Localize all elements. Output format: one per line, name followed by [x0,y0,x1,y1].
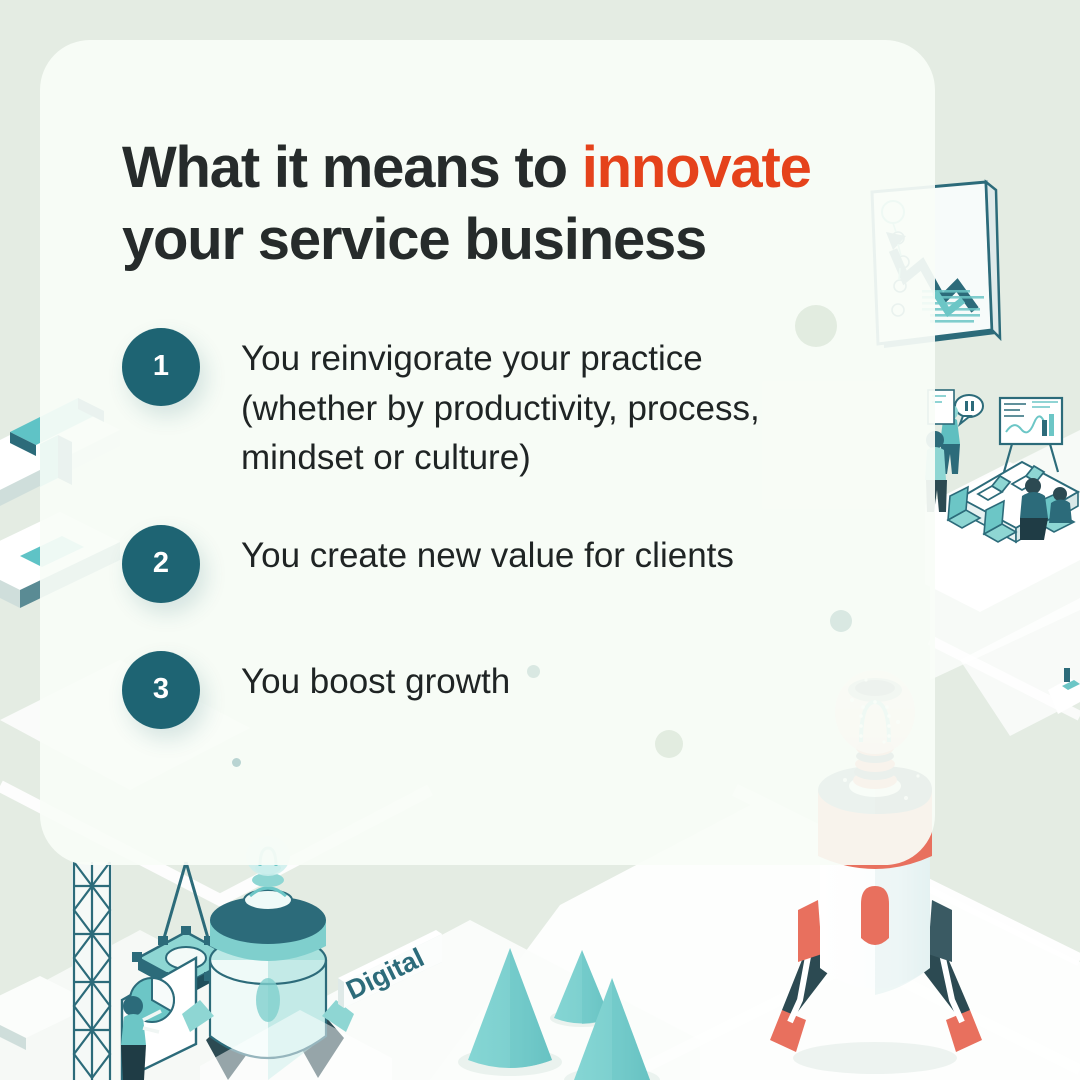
list-number-badge: 1 [122,328,200,406]
decor-dot-5 [232,758,241,767]
list-item: 3 You boost growth [122,651,935,729]
crane-tower [72,862,112,1080]
headline-line1-plain: What it means to [122,135,582,200]
decor-dot-3 [527,665,540,678]
list-item: 1 You reinvigorate your practice (whethe… [122,328,935,483]
content-card: What it means to innovate your service b… [40,40,935,865]
list-item: 2 You create new value for clients [122,525,935,603]
list-number-badge: 3 [122,651,200,729]
list-item-text: You reinvigorate your practice (whether … [241,328,821,483]
headline-accent-word: innovate [582,135,811,200]
badge-wrapper: 3 [122,651,200,729]
list-item-text: You create new value for clients [241,525,734,581]
list-item-text: You boost growth [241,651,510,707]
headline-line2: your service business [122,207,706,272]
page-title: What it means to innovate your service b… [122,132,862,276]
badge-wrapper: 2 [122,525,200,603]
badge-wrapper: 1 [122,328,200,406]
decor-dot-2 [830,610,852,632]
decor-dot-4 [655,730,683,758]
list-number-badge: 2 [122,525,200,603]
poster-canvas: Digital [0,0,1080,1080]
decor-dot-1 [795,305,837,347]
